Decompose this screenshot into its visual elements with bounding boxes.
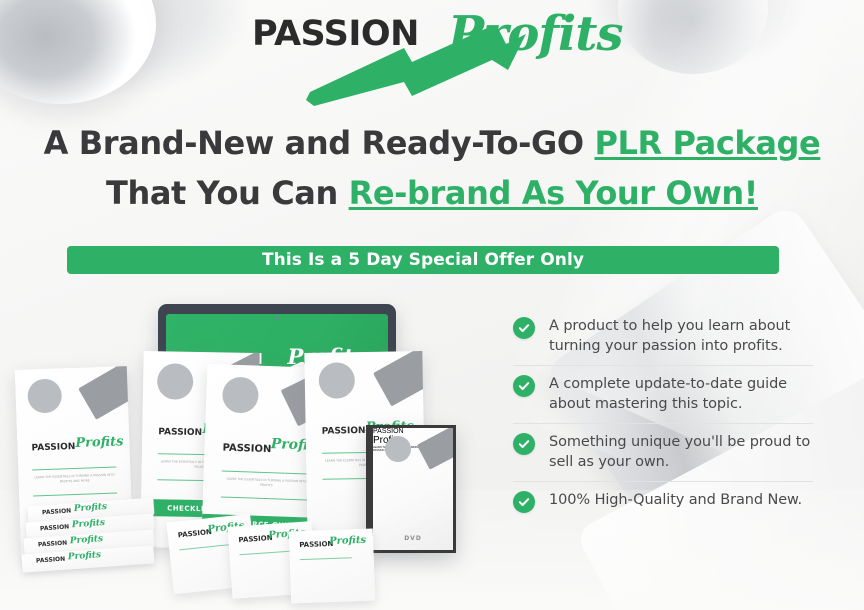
cover-1-word-passion: PASSION bbox=[31, 442, 75, 454]
cover-3-subtitle: LEARN THE ESSENTIALS IN TURNING A PASSIO… bbox=[221, 476, 311, 488]
cover-1-subtitle: LEARN THE ESSENTIALS IN TURNING A PASSIO… bbox=[32, 473, 116, 485]
cover-2-word-passion: PASSION bbox=[158, 427, 202, 438]
check-circle-icon bbox=[513, 317, 535, 339]
feature-text: Something unique you'll be proud to sell… bbox=[549, 432, 813, 472]
check-circle-icon bbox=[513, 375, 535, 397]
book-3-word-passion: PASSION bbox=[38, 540, 68, 549]
book-4-word-profits: Profits bbox=[67, 550, 101, 562]
laptop-camera-icon bbox=[276, 317, 279, 320]
feature-item: A product to help you learn about turnin… bbox=[513, 308, 813, 366]
check-circle-icon bbox=[513, 491, 535, 513]
cover-4-word-passion: PASSION bbox=[322, 426, 366, 437]
dvd-case-mockup: PASSION Profits LEARN THE ESSENTIALS IN … bbox=[366, 425, 456, 553]
headline-line-1-plain: A Brand-New and Ready-To-GO bbox=[44, 124, 595, 162]
book-3-word-profits: Profits bbox=[70, 534, 104, 546]
book-2-word-passion: PASSION bbox=[40, 523, 70, 532]
check-circle-icon bbox=[513, 433, 535, 455]
headline-line-2: That You Can Re-brand As Your Own! bbox=[0, 168, 864, 218]
page-headline: A Brand-New and Ready-To-GO PLR Package … bbox=[0, 118, 864, 218]
feature-list: A product to help you learn about turnin… bbox=[513, 308, 813, 522]
cover-3-word-passion: PASSION bbox=[222, 442, 271, 455]
dvd-format-label: DVD bbox=[404, 535, 422, 542]
logo-word-profits: Profits bbox=[448, 6, 622, 62]
logo-word-passion: PASSION bbox=[252, 14, 419, 54]
sales-page: PASSION Profits A Brand-New and Ready-To… bbox=[0, 0, 864, 610]
product-mockup-image: PASSION Profits PASSION Profits LEARN TH… bbox=[6, 290, 506, 610]
headline-line-1-highlight: PLR Package bbox=[594, 124, 820, 162]
flat-sheet-3: PASSION Profits bbox=[289, 529, 375, 604]
feature-item: Something unique you'll be proud to sell… bbox=[513, 424, 813, 482]
special-offer-banner: This Is a 5 Day Special Offer Only bbox=[67, 246, 779, 274]
sheet-3-word-profits: Profits bbox=[329, 535, 366, 547]
feature-item: 100% High-Quality and Brand New. bbox=[513, 482, 813, 522]
headline-line-2-plain: That You Can bbox=[106, 174, 349, 212]
cover-1-word-profits: Profits bbox=[75, 434, 124, 451]
brand-logo: PASSION Profits bbox=[0, 8, 864, 108]
headline-line-2-highlight: Re-brand As Your Own! bbox=[349, 174, 758, 212]
feature-text: 100% High-Quality and Brand New. bbox=[549, 490, 802, 510]
book-2-word-profits: Profits bbox=[72, 518, 106, 530]
book-4-word-passion: PASSION bbox=[36, 556, 66, 565]
book-1-word-passion: PASSION bbox=[42, 507, 72, 516]
headline-line-1: A Brand-New and Ready-To-GO PLR Package bbox=[0, 118, 864, 168]
feature-item: A complete update-to-date guide about ma… bbox=[513, 366, 813, 424]
book-1-word-profits: Profits bbox=[74, 502, 108, 514]
feature-text: A complete update-to-date guide about ma… bbox=[549, 374, 813, 414]
feature-text: A product to help you learn about turnin… bbox=[549, 316, 813, 356]
